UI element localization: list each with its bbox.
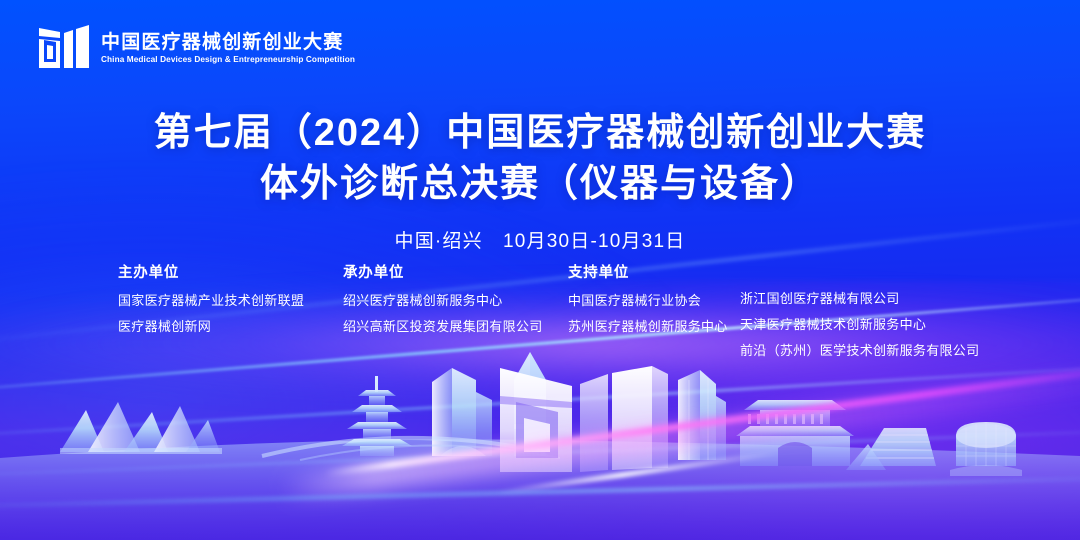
organizer-item: 医疗器械创新网 [118, 320, 343, 333]
organizer-heading: 主办单位 [118, 266, 343, 281]
logo-chinese-name: 中国医疗器械创新创业大赛 [101, 33, 363, 52]
open-book-door-logo-icon [36, 20, 92, 74]
organizer-item: 国家医疗器械产业技术创新联盟 [118, 294, 343, 307]
organizer-item: 中国医疗器械行业协会 [568, 294, 740, 307]
organizer-item: 浙江国创医疗器械有限公司 [740, 292, 1000, 305]
organizer-item: 绍兴医疗器械创新服务中心 [343, 294, 568, 307]
pagoda-tower [342, 376, 412, 456]
organizer-column-supporter: 支持单位 中国医疗器械行业协会 苏州医疗器械创新服务中心 [568, 266, 740, 346]
organizer-column-supporter-extra: 浙江国创医疗器械有限公司 天津医疗器械技术创新服务中心 前沿（苏州）医学技术创新… [740, 266, 1000, 370]
event-location-date: 中国·绍兴 10月30日-10月31日 [0, 226, 1080, 253]
organizer-item: 绍兴高新区投资发展集团有限公司 [343, 320, 568, 333]
organizer-heading: 承办单位 [343, 266, 568, 281]
organizer-heading: 支持单位 [568, 266, 740, 281]
organizer-item: 天津医疗器械技术创新服务中心 [740, 318, 1000, 331]
title-area: 第七届（2024）中国医疗器械创新创业大赛 体外诊断总决赛（仪器与设备） 中国·… [0, 108, 1080, 253]
organizer-column-host: 主办单位 国家医疗器械产业技术创新联盟 医疗器械创新网 [118, 266, 343, 346]
event-title-line-2: 体外诊断总决赛（仪器与设备） [0, 159, 1080, 210]
competition-logo: 中国医疗器械创新创业大赛 China Medical Devices Desig… [36, 20, 363, 74]
event-poster: 中国医疗器械创新创业大赛 China Medical Devices Desig… [0, 0, 1080, 540]
organizer-section: 主办单位 国家医疗器械产业技术创新联盟 医疗器械创新网 承办单位 绍兴医疗器械创… [118, 266, 1000, 370]
organizer-column-coorganizer: 承办单位 绍兴医疗器械创新服务中心 绍兴高新区投资发展集团有限公司 [343, 266, 568, 346]
organizer-item: 前沿（苏州）医学技术创新服务有限公司 [740, 344, 1000, 357]
city-skyline-illustration [0, 340, 1080, 540]
logo-english-name: China Medical Devices Design & Entrepren… [101, 55, 355, 64]
event-title-line-1: 第七届（2024）中国医疗器械创新创业大赛 [0, 108, 1080, 159]
organizer-item: 苏州医疗器械创新服务中心 [568, 320, 740, 333]
dome-arena [950, 422, 1022, 476]
opera-house-shell [60, 402, 222, 454]
